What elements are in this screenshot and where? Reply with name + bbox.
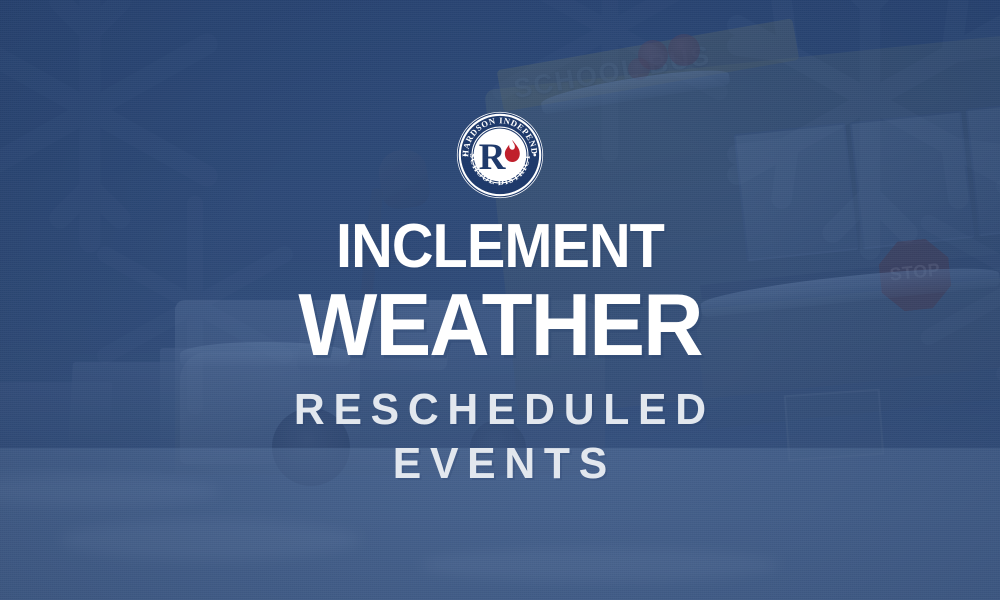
inclement-weather-banner: SCHOOL BUS STOP: [0, 0, 1000, 600]
subheadline-line-events: EVENTS: [15, 442, 985, 486]
subheadline-line-rescheduled: RESCHEDULED: [15, 388, 985, 432]
svg-text:R: R: [479, 136, 507, 177]
district-logo: RICHARDSON INDEPENDENT SCHOOL DISTRICT R: [456, 111, 544, 199]
headline-line-inclement: INCLEMENT: [35, 216, 965, 278]
headline-block: INCLEMENT WEATHER RESCHEDULED EVENTS: [0, 216, 1000, 486]
banner-content: RICHARDSON INDEPENDENT SCHOOL DISTRICT R…: [0, 0, 1000, 600]
headline-line-weather: WEATHER: [25, 280, 975, 370]
richardson-isd-seal-icon: RICHARDSON INDEPENDENT SCHOOL DISTRICT R: [456, 111, 544, 199]
